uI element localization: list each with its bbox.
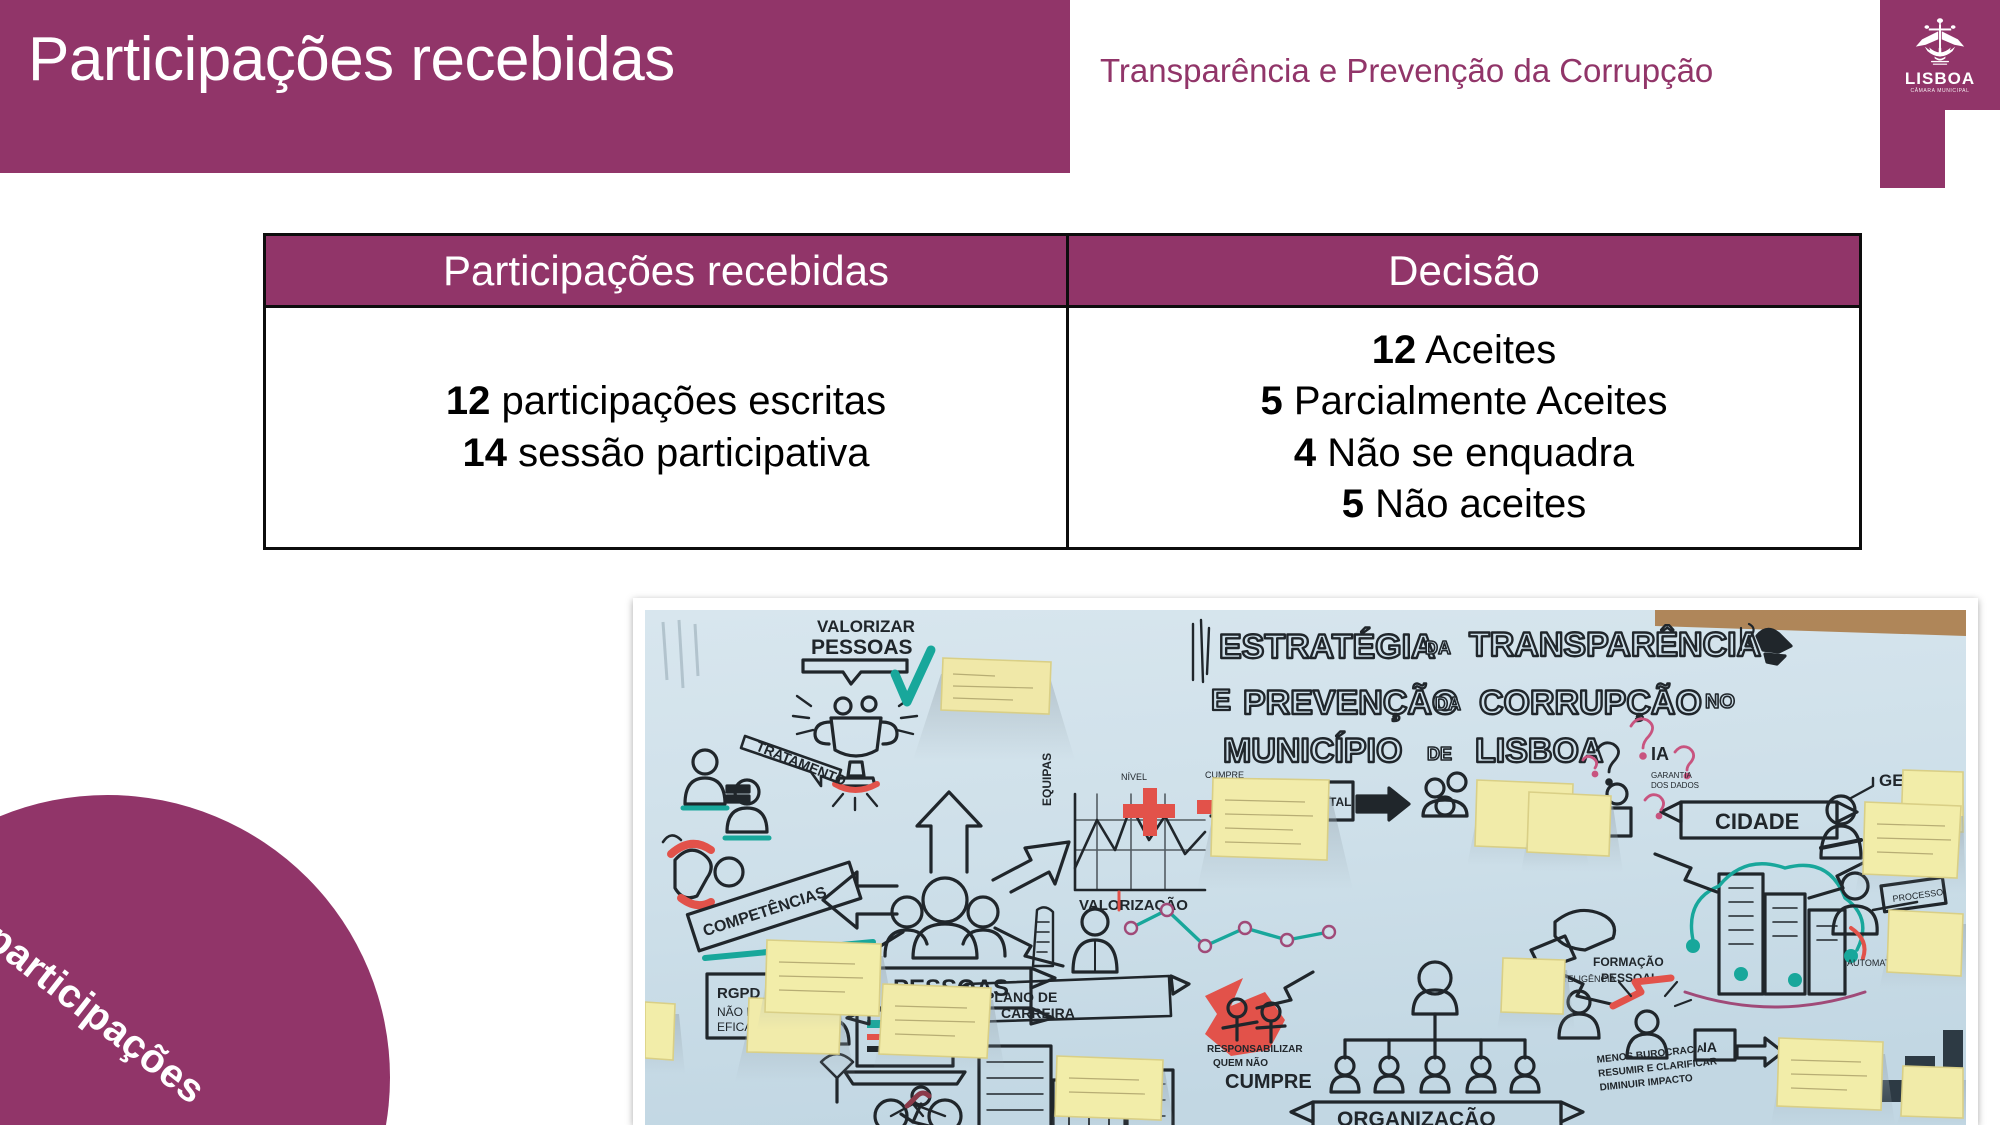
svg-text:NÍVEL: NÍVEL [1121, 772, 1147, 782]
svg-text:NO: NO [1705, 691, 1735, 713]
table-row: 12 participações escritas 14 sessão part… [265, 307, 1861, 549]
list-item: 4 Não se enquadra [1079, 428, 1849, 479]
graphic-recording-photo-frame: VALORIZAR PESSOAS [633, 598, 1978, 1125]
count-label: Aceites [1425, 328, 1556, 372]
logo-tagline: CÂMARA MUNICIPAL [1911, 89, 1970, 94]
count-value: 14 [463, 431, 508, 475]
count-value: 5 [1261, 379, 1283, 423]
list-item: 5 Não aceites [1079, 479, 1849, 530]
svg-text:LISBOA: LISBOA [1475, 732, 1603, 770]
svg-text:CARREIRA: CARREIRA [1001, 1005, 1075, 1021]
svg-text:ESTRATÉGIA: ESTRATÉGIA [1219, 628, 1436, 666]
svg-text:VALORIZAR: VALORIZAR [817, 617, 915, 636]
svg-text:PLANO DE: PLANO DE [985, 989, 1057, 1005]
svg-text:ORGANIZAÇÃO: ORGANIZAÇÃO [1337, 1108, 1496, 1125]
svg-text:DA: DA [1425, 638, 1451, 658]
count-label: Parcialmente Aceites [1294, 379, 1668, 423]
list-item: 14 sessão participativa [276, 428, 1056, 479]
count-label: sessão participativa [518, 431, 869, 475]
svg-text:QUEM NÃO: QUEM NÃO [1213, 1056, 1268, 1069]
table-header-participacoes: Participações recebidas [265, 235, 1068, 307]
svg-text:CORRUPÇÃO: CORRUPÇÃO [1479, 684, 1702, 722]
svg-text:DOS DADOS: DOS DADOS [1651, 781, 1699, 790]
svg-text:IA: IA [1651, 744, 1669, 764]
count-value: 12 [446, 379, 491, 423]
table-header-decisao: Decisão [1068, 235, 1861, 307]
list-item: 12 Aceites [1079, 325, 1849, 376]
header-subtitle: Transparência e Prevenção da Corrupção [1100, 52, 1713, 90]
lisboa-crest-icon [1913, 17, 1967, 69]
slide-canvas: Participações recebidas Transparência e … [0, 0, 2000, 1125]
svg-text:DE: DE [1427, 744, 1452, 764]
decisao-list: 12 Aceites 5 Parcialmente Aceites 4 Não … [1069, 319, 1859, 536]
svg-text:EQUIPAS: EQUIPAS [1040, 753, 1054, 806]
svg-text:RESPONSABILIZAR: RESPONSABILIZAR [1207, 1044, 1303, 1055]
svg-text:PREVENÇÃO: PREVENÇÃO [1243, 684, 1458, 722]
count-value: 12 [1372, 328, 1417, 372]
cell-decisao: 12 Aceites 5 Parcialmente Aceites 4 Não … [1068, 307, 1861, 549]
participacoes-list: 12 participações escritas 14 sessão part… [266, 370, 1066, 484]
count-label: Não aceites [1375, 482, 1586, 526]
participacoes-decisao-table: Participações recebidas Decisão 12 parti… [263, 233, 1862, 550]
count-value: 4 [1294, 431, 1316, 475]
list-item: 12 participações escritas [276, 376, 1056, 427]
graphic-recording-photo: VALORIZAR PESSOAS [645, 610, 1966, 1125]
svg-text:MUNICÍPIO: MUNICÍPIO [1223, 732, 1402, 770]
svg-text:CUMPRE: CUMPRE [1225, 1071, 1312, 1093]
svg-text:PESSOAS: PESSOAS [811, 636, 913, 659]
svg-text:TRANSPARÊNCIA: TRANSPARÊNCIA [1469, 626, 1761, 664]
svg-text:IA: IA [1703, 1039, 1717, 1055]
count-label: Não se enquadra [1327, 431, 1634, 475]
count-label: participações escritas [502, 379, 887, 423]
count-value: 5 [1342, 482, 1364, 526]
table-header-row: Participações recebidas Decisão [265, 235, 1861, 307]
svg-text:DA: DA [1435, 694, 1461, 714]
list-item: 5 Parcialmente Aceites [1079, 376, 1849, 427]
svg-text:GARANTIA: GARANTIA [1651, 771, 1693, 780]
logo-block: LISBOA CÂMARA MUNICIPAL [1880, 0, 2000, 110]
cell-participacoes-recebidas: 12 participações escritas 14 sessão part… [265, 307, 1068, 549]
svg-text:FORMAÇÃO: FORMAÇÃO [1593, 954, 1664, 969]
page-title: Participações recebidas [28, 26, 675, 94]
svg-text:CIDADE: CIDADE [1715, 809, 1799, 834]
logo-wordmark: LISBOA [1905, 70, 1975, 87]
logo-tail-shape [1880, 110, 1945, 188]
svg-text:E: E [1211, 684, 1231, 717]
